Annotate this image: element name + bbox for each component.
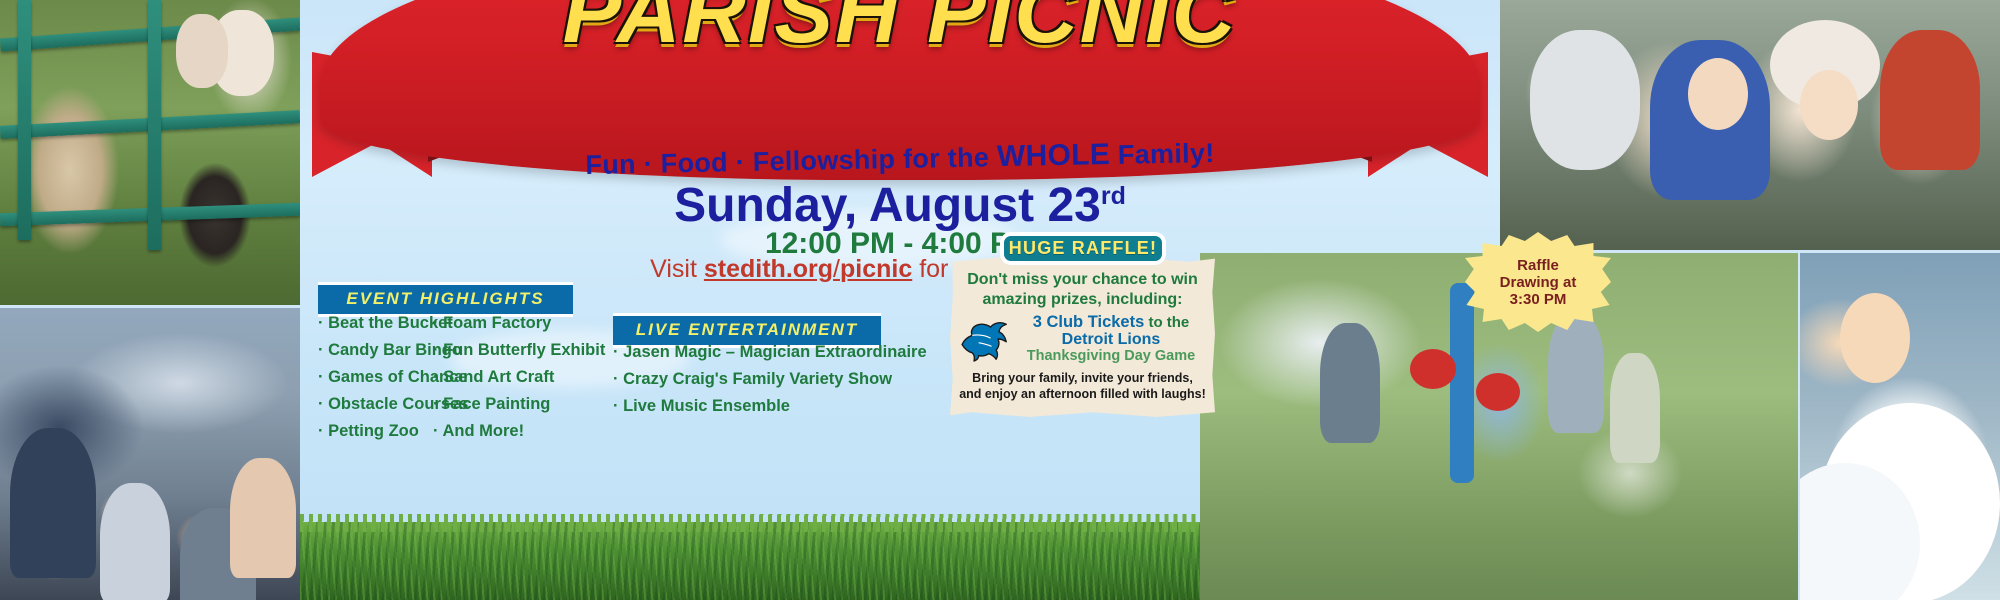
event-highlights-heading: EVENT HIGHLIGHTS <box>318 282 573 317</box>
list-item: · And More! <box>433 421 583 442</box>
event-highlights-column-2: · Foam Factory · Fun Butterfly Exhibit ·… <box>433 313 583 448</box>
event-highlights-column-1: · Beat the Bucket · Candy Bar Bingo · Ga… <box>318 313 448 448</box>
list-item: · Games of Chance <box>318 367 448 388</box>
url-slash: / <box>833 255 840 283</box>
raffle-intro: Don't miss your chance to win amazing pr… <box>950 270 1215 310</box>
prize-to: to the <box>1144 314 1189 331</box>
list-item: · Sand Art Craft <box>433 367 583 388</box>
starburst-text: Raffle Drawing at 3:30 PM <box>1500 257 1577 308</box>
tagline-emphasis: WHOLE <box>997 138 1111 173</box>
list-item: · Beat the Bucket <box>318 313 448 334</box>
detroit-lions-logo-icon <box>958 316 1014 362</box>
raffle-drawing-starburst: Raffle Drawing at 3:30 PM <box>1465 232 1611 332</box>
event-date-text: Sunday, August 23 <box>674 179 1101 232</box>
huge-raffle-badge: HUGE RAFFLE! <box>1000 232 1166 265</box>
list-item: · Fun Butterfly Exhibit <box>433 340 583 361</box>
starburst-line-1: Raffle <box>1500 257 1577 274</box>
raffle-footer-line-2: and enjoy an afternoon filled with laugh… <box>950 386 1215 402</box>
raffle-prize-text: 3 Club Tickets to the Detroit Lions Than… <box>1014 314 1208 365</box>
raffle-intro-line-2: amazing prizes, including: <box>950 290 1215 310</box>
raffle-prize-row: 3 Club Tickets to the Detroit Lions Than… <box>958 313 1208 365</box>
banner-main-title: PARISH PICNIC <box>320 0 1480 56</box>
raffle-footer: Bring your family, invite your friends, … <box>950 370 1215 402</box>
event-date-ordinal: rd <box>1101 182 1126 210</box>
url-path-link[interactable]: picnic <box>840 255 912 283</box>
tagline-suffix: Family! <box>1110 138 1215 170</box>
parish-picnic-banner: 2026 ST. EDITH PARISH PICNIC Fun · Food … <box>0 0 2000 600</box>
list-item: · Crazy Craig's Family Variety Show <box>613 369 913 390</box>
prize-headline: 3 Club Tickets <box>1033 313 1145 331</box>
tagline-prefix: Fun · Food · Fellowship for the <box>585 142 997 180</box>
event-url-line: Visit stedith.org/picnic for more inform… <box>300 255 1500 284</box>
live-entertainment-list: · Jasen Magic – Magician Extraordinaire … <box>613 342 913 423</box>
photo-goats <box>0 0 300 305</box>
starburst-line-2: Drawing at <box>1500 274 1577 291</box>
photo-kids-with-puppets <box>1500 0 2000 250</box>
list-item: · Face Painting <box>433 394 583 415</box>
starburst-line-3: 3:30 PM <box>1500 291 1577 308</box>
list-item: · Petting Zoo <box>318 421 448 442</box>
photo-crowd <box>0 308 300 600</box>
url-prefix: Visit <box>650 255 704 283</box>
prize-team: Detroit Lions <box>1014 331 1208 348</box>
url-domain-link[interactable]: stedith.org <box>704 255 833 283</box>
list-item: · Foam Factory <box>433 313 583 334</box>
list-item: · Obstacle Courses <box>318 394 448 415</box>
prize-game: Thanksgiving Day Game <box>1014 348 1208 365</box>
raffle-footer-line-1: Bring your family, invite your friends, <box>950 370 1215 386</box>
event-date: Sunday, August 23rd <box>300 178 1500 233</box>
photo-foam-party <box>1800 253 2000 600</box>
list-item: · Candy Bar Bingo <box>318 340 448 361</box>
raffle-intro-line-1: Don't miss your chance to win <box>950 270 1215 290</box>
list-item: · Live Music Ensemble <box>613 396 913 417</box>
list-item: · Jasen Magic – Magician Extraordinaire <box>613 342 913 363</box>
